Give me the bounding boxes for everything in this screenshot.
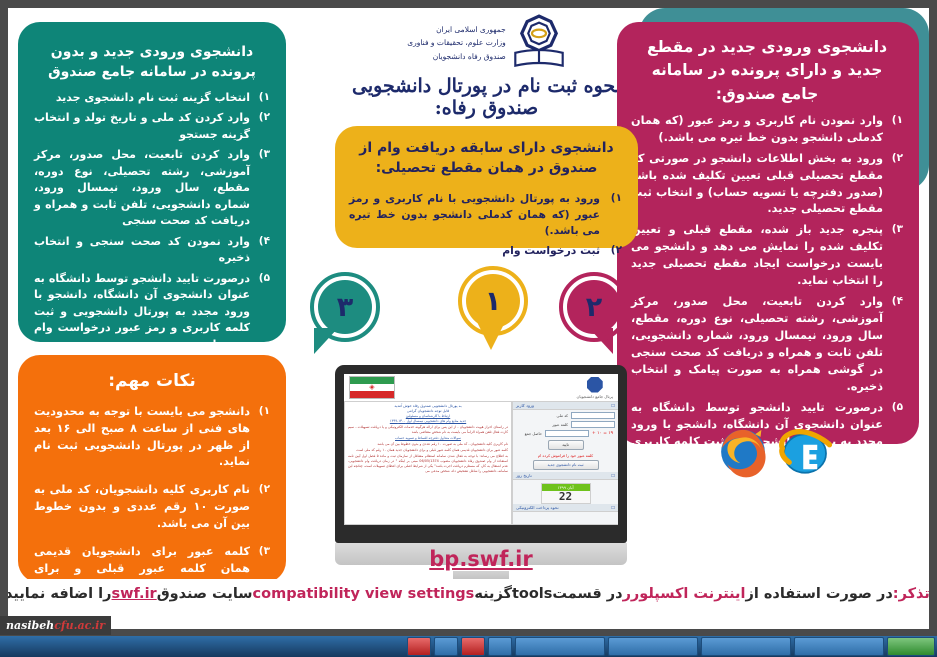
taskbar-item[interactable] bbox=[794, 637, 884, 656]
panel-collapse-icon[interactable]: ☐ bbox=[611, 403, 615, 408]
list-item-text: ثبت درخواست وام bbox=[502, 244, 600, 257]
portal-body: ☐ ورود کاربر کد ملی کلمه عبور ۱۹ = ۱ bbox=[344, 401, 618, 525]
list-item-text: درصورت تایید دانشجو توسط دانشگاه به عنوا… bbox=[34, 272, 250, 351]
panel-collapse-icon[interactable]: ☐ bbox=[611, 473, 615, 478]
list-item-text: وارد کردن تابعیت، محل صدور، مرکز آموزشی،… bbox=[631, 295, 883, 393]
register-new-student-button[interactable]: ثبت نام دانشجوی جدید bbox=[533, 460, 599, 470]
swf-link[interactable]: swf.ir bbox=[112, 586, 157, 602]
list-item-number: ۱) bbox=[604, 191, 622, 207]
logo-octagon bbox=[587, 377, 603, 393]
captcha-question: ۱۹ = ۱۰ + bbox=[592, 431, 613, 436]
panel-title: نکات مهم: bbox=[34, 369, 270, 394]
list-item-text: ورود به بخش اطلاعات دانشجو در صورتی که م… bbox=[631, 152, 883, 216]
list-item-text: وارد کردن تابعیت، محل صدور، مرکز آموزشی،… bbox=[34, 148, 250, 227]
list-item: ۴) وارد نمودن کد صحت سنجی و انتخاب ذخیره bbox=[34, 234, 250, 267]
list-item-number: ۴) bbox=[252, 234, 270, 250]
pin-label: ۱ bbox=[485, 288, 501, 315]
calendar-day: 22 bbox=[542, 491, 590, 503]
list-item-number: ۴) bbox=[885, 294, 903, 310]
list-item: ۴) وارد کردن تابعیت، محل صدور، مرکز آموز… bbox=[631, 294, 883, 396]
infographic-page: جمهوری اسلامی ایران وزارت علوم، تحقیقات … bbox=[8, 8, 929, 629]
list-item: ۵) درصورت تایید دانشجو توسط دانشگاه به ع… bbox=[34, 271, 250, 354]
faq-link[interactable]: سوالات متداول دفترچه اقساط و تسویه حساب bbox=[348, 436, 508, 441]
date-panel-title: ☐ تاریخ روز bbox=[513, 472, 618, 480]
calendar-month: آبان ۱۳۹۹ bbox=[542, 484, 590, 491]
panel-steps-list: ۱) انتخاب گزینه ثبت نام دانشجوی جدید ۲) … bbox=[34, 90, 270, 354]
list-item-number: ۱) bbox=[885, 113, 903, 129]
list-item-number: ۲) bbox=[604, 243, 622, 259]
note-text-c: گزینه bbox=[474, 586, 512, 602]
note-highlight-ie: اینترنت اکسپلورر bbox=[623, 586, 746, 602]
pin-disc: ۱ bbox=[466, 274, 520, 328]
portal-paragraph-3: کلمه عبور برای دانشجویان قدیمی همان کلمه… bbox=[348, 448, 508, 453]
note-compatibility-keyword: compatibility view settings bbox=[253, 586, 475, 602]
taskbar-item[interactable] bbox=[701, 637, 791, 656]
taskbar-item[interactable] bbox=[515, 637, 605, 656]
list-item: ۲) ثبت درخواست وام bbox=[349, 243, 600, 259]
list-item: ۳) وارد کردن تابعیت، محل صدور، مرکز آموز… bbox=[34, 147, 250, 230]
portal-screenshot: پرتال جامع دانشجویان ◈ ☐ ورود کاربر bbox=[344, 374, 618, 525]
panel-important-notes: نکات مهم: ۱) دانشجو می بایست با توجه به … bbox=[18, 355, 286, 583]
screenshot-canvas: جمهوری اسلامی ایران وزارت علوم، تحقیقات … bbox=[0, 0, 937, 657]
logo-line-3: صندوق رفاه دانشجویان bbox=[407, 50, 505, 63]
panel-steps-list: ۱) وارد نمودن نام کاربری و رمز عبور (که … bbox=[631, 113, 903, 468]
portal-url-link[interactable]: bp.swf.ir bbox=[335, 547, 627, 571]
pin-label: ۳ bbox=[337, 294, 353, 321]
step-pin-3: ۳ bbox=[310, 272, 380, 358]
loan-resources-link[interactable]: جدید منابع وام های دانشجویی نیمسال اول ۱… bbox=[348, 419, 508, 424]
list-item-text: دانشجو می بایست با توجه به محدودیت های ف… bbox=[34, 405, 250, 469]
list-item-number: ۳) bbox=[252, 544, 270, 560]
portal-paragraph-4: به اطلاع می رساند: با توجه به فعال شدن س… bbox=[348, 454, 508, 474]
list-item-text: پنجره جدید باز شده، مقطع قبلی و تعیین تک… bbox=[631, 223, 883, 287]
monitor-bezel: پرتال جامع دانشجویان ◈ ☐ ورود کاربر bbox=[335, 365, 627, 543]
logo-line-2: وزارت علوم، تحقیقات و فناوری bbox=[407, 36, 505, 49]
list-item-number: ۳) bbox=[885, 222, 903, 238]
list-item-number: ۱) bbox=[252, 404, 270, 420]
list-item-text: انتخاب گزینه ثبت نام دانشجوی جدید bbox=[56, 91, 250, 104]
calendar-widget: آبان ۱۳۹۹ 22 bbox=[541, 483, 591, 504]
internet-explorer-icon bbox=[777, 422, 833, 478]
captcha-field-row: ۱۹ = ۱۰ + حاصل جمع bbox=[516, 430, 615, 437]
organization-name-lines: جمهوری اسلامی ایران وزارت علوم، تحقیقات … bbox=[407, 21, 505, 62]
list-item-number: ۵) bbox=[885, 400, 903, 416]
national-id-field-row: کد ملی bbox=[516, 412, 615, 419]
list-item: ۱) وارد نمودن نام کاربری و رمز عبور (که … bbox=[631, 113, 883, 147]
browser-icons-group bbox=[715, 422, 833, 478]
list-item: ۲) ورود به بخش اطلاعات دانشجو در صورتی ک… bbox=[631, 151, 883, 219]
list-item-text: نام کاربری کلیه دانشجویان، کد ملی به صور… bbox=[34, 483, 250, 530]
panel-steps-list: ۱) ورود به پورتال دانشجویی با نام کاربری… bbox=[349, 191, 624, 260]
firefox-icon bbox=[715, 422, 771, 478]
note-text-e: را اضافه نمایید. bbox=[8, 586, 112, 602]
password-input[interactable] bbox=[571, 421, 615, 428]
captcha-label: حاصل جمع bbox=[518, 431, 542, 436]
login-button[interactable]: تایید bbox=[548, 440, 584, 450]
list-item-number: ۳) bbox=[252, 147, 270, 163]
panel-existing-loan-student: دانشجوی دارای سابقه دریافت وام از صندوق … bbox=[335, 126, 638, 248]
list-item: ۱) ورود به پورتال دانشجویی با نام کاربری… bbox=[349, 191, 600, 240]
login-panel-title: ☐ ورود کاربر bbox=[513, 402, 618, 410]
pin-label: ۲ bbox=[586, 294, 602, 321]
portal-paragraph-1: در راستای احراز هویت دانشجویان ، از این … bbox=[348, 425, 508, 435]
payment-panel-title: ☐ نحوه پرداخت الکترونیکی bbox=[513, 504, 618, 512]
national-id-input[interactable] bbox=[571, 412, 615, 419]
list-item-text: ورود به پورتال دانشجویی با نام کاربری و … bbox=[349, 192, 600, 237]
swf-logo-icon bbox=[512, 14, 566, 70]
national-id-label: کد ملی bbox=[544, 413, 568, 418]
pin-disc: ۳ bbox=[318, 280, 372, 334]
note-text-b: در قسمت bbox=[552, 586, 622, 602]
list-item-number: ۵) bbox=[252, 271, 270, 287]
step-pin-2: ۲ bbox=[559, 272, 629, 358]
taskbar-item[interactable] bbox=[407, 637, 431, 656]
list-item: ۱) دانشجو می بایست با توجه به محدودیت ها… bbox=[34, 404, 250, 472]
list-item: ۱) انتخاب گزینه ثبت نام دانشجوی جدید bbox=[34, 90, 250, 107]
list-item-text: وارد کردن کد ملی و تاریخ تولد و انتخاب گ… bbox=[34, 111, 250, 141]
password-field-row: کلمه عبور bbox=[516, 421, 615, 428]
watermark: nasibehcfu.ac.ir bbox=[0, 616, 111, 635]
note-text-d: سایت صندوق bbox=[157, 586, 253, 602]
panel-collapse-icon[interactable]: ☐ bbox=[611, 505, 615, 510]
panel-title: دانشجوی دارای سابقه دریافت وام از صندوق … bbox=[349, 138, 624, 179]
list-item-number: ۲) bbox=[885, 151, 903, 167]
taskbar-item[interactable] bbox=[488, 637, 512, 656]
portal-sidebar: ☐ ورود کاربر کد ملی کلمه عبور ۱۹ = ۱ bbox=[512, 401, 618, 525]
step-pin-1: ۱ bbox=[458, 266, 528, 352]
list-item-number: ۲) bbox=[252, 482, 270, 498]
page-header: جمهوری اسلامی ایران وزارت علوم، تحقیقات … bbox=[335, 12, 638, 124]
bottom-warning-note: * تذکر: در صورت استفاده از اینترنت اکسپل… bbox=[8, 579, 929, 609]
logo-line-1: جمهوری اسلامی ایران bbox=[407, 23, 505, 36]
portal-header: پرتال جامع دانشجویان ◈ bbox=[344, 374, 618, 401]
monitor-illustration: پرتال جامع دانشجویان ◈ ☐ ورود کاربر bbox=[335, 365, 627, 587]
swf-logo-icon: پرتال جامع دانشجویان bbox=[576, 377, 613, 399]
taskbar-item[interactable] bbox=[461, 637, 485, 656]
taskbar-item[interactable] bbox=[434, 637, 458, 656]
panel-title: دانشجوی ورودی جدید و بدون پرونده در ساما… bbox=[34, 42, 270, 83]
panel-title: دانشجوی ورودی جدید در مقطع جدید و دارای … bbox=[631, 36, 903, 106]
forgot-password-link[interactable]: کلمه عبور خود را فراموش کرده ام bbox=[513, 453, 618, 458]
list-item-text: وارد نمودن کد صحت سنجی و انتخاب ذخیره bbox=[34, 235, 250, 265]
pin-disc: ۲ bbox=[567, 280, 621, 334]
list-item-number: ۲) bbox=[252, 110, 270, 126]
password-label: کلمه عبور bbox=[544, 422, 568, 427]
list-item-number: ۱) bbox=[252, 90, 270, 106]
portal-news-content: به پورتال دانشجویی صندوق رفاه خوش آمدید … bbox=[344, 401, 512, 525]
note-label: تذکر: bbox=[893, 586, 929, 602]
watermark-domain: cfu.ac.ir bbox=[54, 619, 105, 632]
site-caption: پرتال جامع دانشجویان bbox=[576, 394, 613, 399]
page-title: نحوه ثبت نام در پورتال دانشجویی صندوق رف… bbox=[335, 75, 638, 119]
taskbar-start-button[interactable] bbox=[887, 637, 935, 656]
list-item: ۲) وارد کردن کد ملی و تاریخ تولد و انتخا… bbox=[34, 110, 250, 143]
panel-new-student-without-record: دانشجوی ورودی جدید و بدون پرونده در ساما… bbox=[18, 22, 286, 342]
panel-new-student-with-record: دانشجوی ورودی جدید در مقطع جدید و دارای … bbox=[617, 22, 919, 444]
note-text-a: در صورت استفاده از bbox=[745, 586, 892, 602]
portal-paragraph-2: نام کاربری کلیه دانشجویان ، کد ملی به صو… bbox=[348, 442, 508, 447]
list-item: ۲) نام کاربری کلیه دانشجویان، کد ملی به … bbox=[34, 482, 250, 533]
list-item: ۳) پنجره جدید باز شده، مقطع قبلی و تعیین… bbox=[631, 222, 883, 290]
os-taskbar bbox=[0, 636, 937, 657]
watermark-name: nasibeh bbox=[6, 619, 54, 632]
note-tools-keyword: tools bbox=[512, 586, 552, 602]
organization-logo-row: جمهوری اسلامی ایران وزارت علوم، تحقیقات … bbox=[335, 12, 638, 72]
captcha-input[interactable] bbox=[545, 430, 589, 437]
iran-flag-icon: ◈ bbox=[349, 376, 395, 399]
list-item-text: وارد نمودن نام کاربری و رمز عبور (که هما… bbox=[631, 114, 883, 144]
taskbar-item[interactable] bbox=[608, 637, 698, 656]
